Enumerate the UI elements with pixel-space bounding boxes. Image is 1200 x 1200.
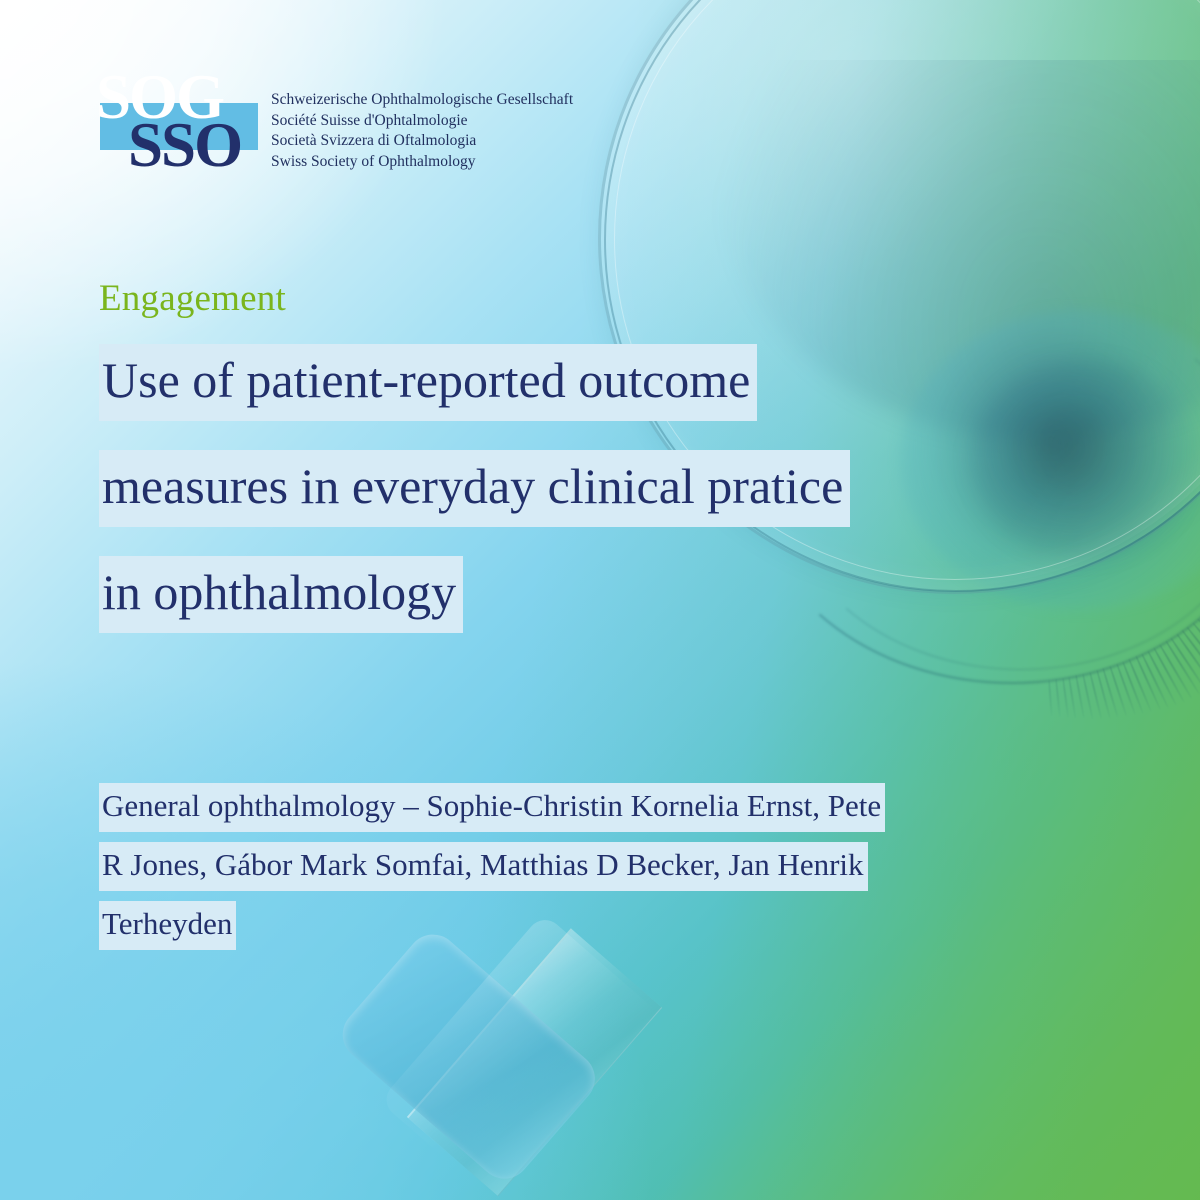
logo-line-en: Swiss Society of Ophthalmology: [271, 152, 573, 173]
author-line-1-text: General ophthalmology – Sophie-Christin …: [99, 783, 885, 832]
author-line-3: Terheyden: [99, 908, 1109, 939]
title-line-1-text: Use of patient-reported outcome: [99, 344, 757, 421]
title-line-2-text: measures in everyday clinical pratice: [99, 450, 850, 527]
logo-line-de: Schweizerische Ophthalmologische Gesells…: [271, 90, 573, 111]
sog-sso-logo: SOG SSO Schweizerische Ophthalmologische…: [96, 58, 616, 186]
logo-mark: SOG SSO: [96, 58, 268, 183]
logo-sso-text: SSO: [128, 114, 241, 177]
poster: SOG SSO Schweizerische Ophthalmologische…: [0, 0, 1200, 1200]
eyelash: [1062, 678, 1069, 718]
author-line-2: R Jones, Gábor Mark Somfai, Matthias D B…: [99, 849, 1109, 880]
logo-society-names: Schweizerische Ophthalmologische Gesells…: [271, 90, 573, 173]
eyelash: [1055, 679, 1061, 717]
page-title: Use of patient-reported outcome measures…: [99, 355, 1119, 673]
logo-line-it: Società Svizzera di Oftalmologia: [271, 131, 573, 152]
eyelash: [1048, 680, 1053, 716]
logo-line-fr: Société Suisse d'Ophtalmologie: [271, 111, 573, 132]
author-line-1: General ophthalmology – Sophie-Christin …: [99, 790, 1109, 821]
title-line-3-text: in ophthalmology: [99, 556, 463, 633]
author-line-2-text: R Jones, Gábor Mark Somfai, Matthias D B…: [99, 842, 868, 891]
title-line-3: in ophthalmology: [99, 567, 1119, 617]
eyelash: [1109, 666, 1127, 717]
title-line-2: measures in everyday clinical pratice: [99, 461, 1119, 511]
eyelash: [1102, 668, 1119, 718]
title-line-1: Use of patient-reported outcome: [99, 355, 1119, 405]
author-line-3-text: Terheyden: [99, 901, 236, 950]
category-kicker: Engagement: [99, 277, 286, 320]
authors-block: General ophthalmology – Sophie-Christin …: [99, 790, 1109, 967]
